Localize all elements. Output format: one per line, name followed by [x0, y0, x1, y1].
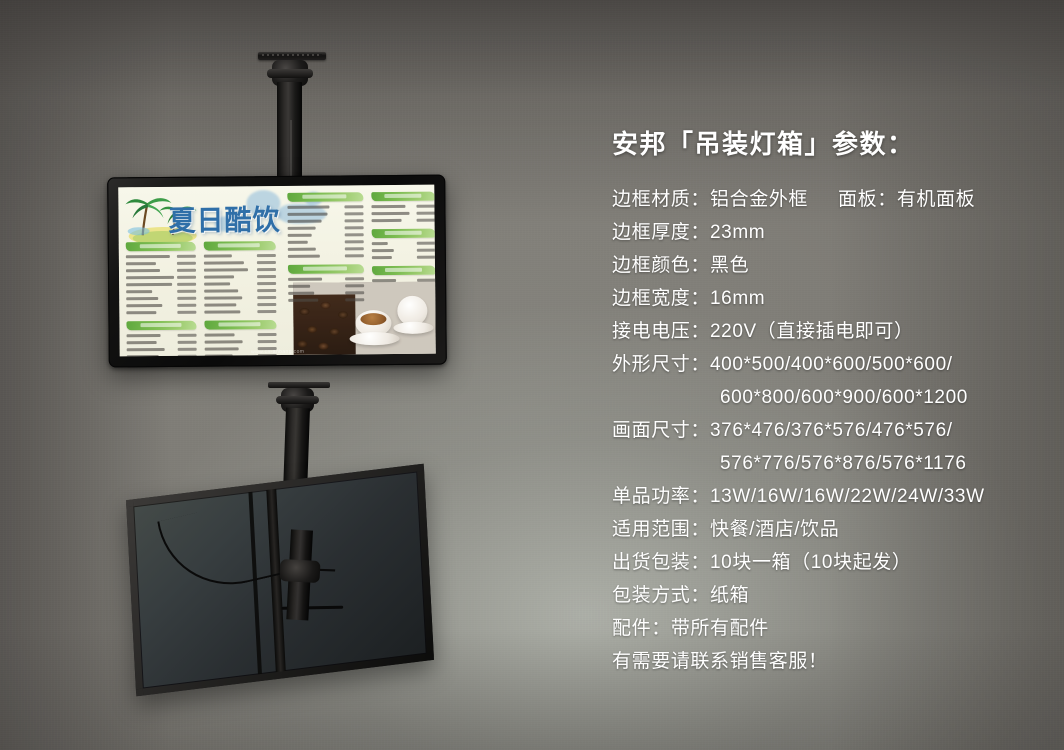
menu-section [372, 266, 436, 285]
spec-label: 有需要请联系销售客服！ [612, 651, 828, 672]
menu-title-text: 夏日酷饮 [168, 197, 280, 239]
spec-line: 边框材质：铝合金外框面板：有机面板 [612, 183, 1042, 216]
spec-separator: ： [690, 189, 710, 210]
spec-value: 576*776/576*876/576*1176 [720, 453, 967, 474]
spec-separator: ： [690, 354, 710, 375]
spec-line: 边框厚度：23mm [612, 216, 1042, 249]
spec-separator: ： [690, 519, 710, 540]
light-box-front: 夏日酷饮 [107, 175, 447, 368]
spec-line: 画面尺寸：376*476/376*576/476*576/ [612, 414, 1042, 447]
menu-section [126, 242, 197, 317]
spec-line: 边框宽度：16mm [612, 282, 1042, 315]
spec-label: 边框厚度 [612, 222, 690, 243]
menu-section-header [288, 264, 364, 274]
ceiling-mount-plate-upper [258, 52, 326, 60]
menu-item-row [126, 309, 196, 317]
spec-label: 包装方式 [612, 585, 690, 606]
pole-clamp [279, 559, 320, 583]
spec-value: 铝合金外框 [710, 189, 808, 210]
spec-label: 出货包装 [612, 552, 690, 573]
spec-line: 576*776/576*876/576*1176 [612, 447, 1042, 480]
menu-section-header [287, 192, 363, 202]
menu-section-header [126, 321, 196, 331]
spec-value: 23mm [710, 222, 765, 243]
menu-section-header [204, 320, 276, 330]
spec-line: 接电电压：220V（直接插电即可） [612, 315, 1042, 348]
spec-value: 快餐/酒店/饮品 [710, 519, 839, 540]
spec-value: 黑色 [710, 255, 749, 276]
menu-section-header [371, 192, 435, 202]
spec-extra: 面板：有机面板 [838, 189, 975, 210]
menu-section-header [372, 266, 436, 276]
menu-column-2 [204, 241, 277, 356]
spec-label: 边框宽度 [612, 288, 690, 309]
spec-separator: ： [651, 618, 671, 639]
spec-label: 边框材质 [612, 189, 690, 210]
menu-columns [124, 240, 432, 353]
menu-item-row [288, 296, 364, 304]
spec-title: 安邦「吊装灯箱」参数： [612, 124, 1042, 161]
spec-value: 带所有配件 [671, 618, 769, 639]
spec-panel: 安邦「吊装灯箱」参数： 边框材质：铝合金外框面板：有机面板边框厚度：23mm边框… [612, 124, 1042, 678]
spec-value: 400*500/400*600/500*600/ [710, 354, 953, 375]
menu-item-row [372, 254, 436, 262]
spec-separator: ： [690, 486, 710, 507]
spec-value: 220V（直接插电即可） [710, 321, 914, 342]
spec-line: 有需要请联系销售客服！ [612, 645, 1042, 678]
menu-column-4 [371, 192, 435, 290]
spec-label: 单品功率 [612, 486, 690, 507]
spec-lines: 边框材质：铝合金外框面板：有机面板边框厚度：23mm边框颜色：黑色边框宽度：16… [612, 183, 1042, 678]
spec-separator: ： [690, 222, 710, 243]
menu-item-row [372, 217, 436, 225]
spec-separator: ： [690, 255, 710, 276]
spec-value: 13W/16W/16W/22W/24W/33W [710, 486, 985, 507]
menu-panel: 夏日酷饮 [118, 185, 435, 357]
spec-separator: ： [690, 288, 710, 309]
menu-section [126, 321, 196, 357]
menu-section [287, 192, 364, 260]
spec-separator: ： [690, 420, 710, 441]
spec-label: 外形尺寸 [612, 354, 690, 375]
spec-line: 单品功率：13W/16W/16W/22W/24W/33W [612, 480, 1042, 513]
spec-value: 16mm [710, 288, 765, 309]
spec-separator: ： [690, 552, 710, 573]
spec-label: 适用范围 [612, 519, 690, 540]
spec-value: 10块一箱（10块起发） [710, 552, 911, 573]
menu-section [372, 229, 436, 262]
menu-item-row [204, 308, 276, 316]
spec-line: 出货包装：10块一箱（10块起发） [612, 546, 1042, 579]
spec-value: 376*476/376*576/476*576/ [710, 420, 953, 441]
spec-line: 边框颜色：黑色 [612, 249, 1042, 282]
menu-item-row [288, 252, 364, 260]
spec-label: 配件 [612, 618, 651, 639]
spec-line: 包装方式：纸箱 [612, 579, 1042, 612]
spec-label: 接电电压 [612, 321, 690, 342]
menu-section [288, 264, 364, 304]
spec-line: 600*800/600*900/600*1200 [612, 381, 1042, 414]
menu-section-header [372, 229, 436, 239]
menu-section [204, 241, 277, 316]
aluminium-frame-rear [126, 464, 434, 697]
menu-section [371, 192, 435, 225]
menu-section-header [204, 241, 276, 251]
light-box-rear [126, 464, 434, 697]
spec-label: 边框颜色 [612, 255, 690, 276]
spec-line: 外形尺寸：400*500/400*600/500*600/ [612, 348, 1042, 381]
spec-separator: ： [690, 585, 710, 606]
spec-separator: ： [690, 321, 710, 342]
menu-column-1 [126, 242, 197, 357]
spec-value: 纸箱 [710, 585, 749, 606]
menu-item-row [372, 277, 436, 285]
menu-column-3 [287, 192, 364, 309]
menu-section-header [126, 242, 196, 252]
spec-label: 画面尺寸 [612, 420, 690, 441]
spec-line: 配件：带所有配件 [612, 612, 1042, 645]
product-photo-canvas: 夏日酷饮 [0, 0, 1064, 750]
spec-line: 适用范围：快餐/酒店/饮品 [612, 513, 1042, 546]
spec-value: 600*800/600*900/600*1200 [720, 387, 968, 408]
menu-watermark: www.cn-anbang.com [251, 349, 304, 355]
